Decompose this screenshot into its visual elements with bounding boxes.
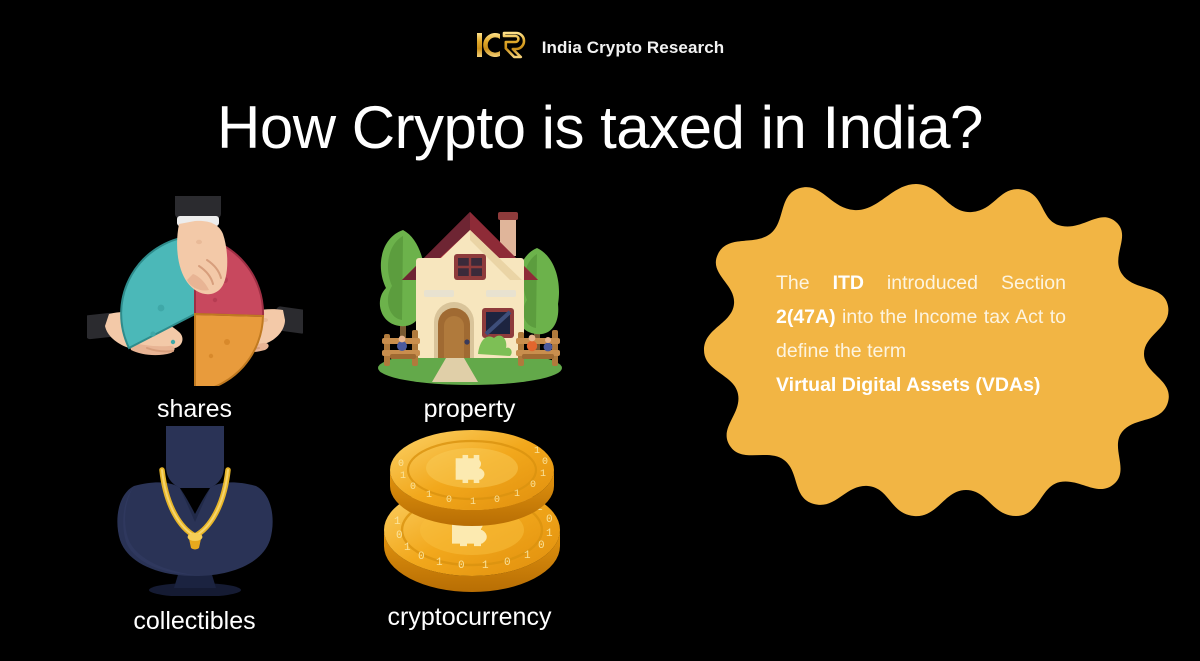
necklace-bust-icon (100, 424, 290, 601)
callout-text-emphasis-itd: ITD (833, 272, 864, 294)
svg-text:0: 0 (530, 480, 536, 491)
poster-canvas: India Crypto Research How Crypto is taxe… (0, 0, 1200, 661)
svg-text:0: 0 (410, 482, 416, 493)
callout-text: The ITD introduced Section 2(47A) into t… (776, 266, 1066, 402)
brand-name: India Crypto Research (542, 38, 725, 58)
svg-text:0: 0 (504, 557, 511, 569)
svg-text:1: 1 (436, 557, 443, 569)
callout-text-emphasis-section: 2(47A) (776, 306, 836, 328)
asset-grid: shares (62, 196, 602, 634)
callout-burst: The ITD introduced Section 2(47A) into t… (648, 178, 1182, 522)
svg-text:0: 0 (446, 495, 452, 506)
svg-text:0: 0 (458, 560, 465, 572)
asset-label-shares: shares (157, 395, 232, 424)
svg-text:1: 1 (426, 490, 432, 501)
svg-text:0: 0 (396, 530, 403, 542)
callout-text-emphasis-vda: Virtual Digital Assets (VDAs) (776, 368, 1066, 402)
asset-item-property: property (337, 196, 602, 424)
svg-text:1: 1 (540, 469, 546, 480)
svg-text:1: 1 (534, 446, 540, 457)
icr-monogram-icon (476, 30, 528, 65)
callout-text-part-1: The (776, 272, 833, 294)
svg-text:1: 1 (514, 489, 520, 500)
svg-text:0: 0 (418, 551, 425, 563)
svg-text:1: 1 (400, 471, 406, 482)
callout-text-part-2: introduced Section (864, 272, 1066, 294)
svg-text:1: 1 (470, 497, 476, 508)
svg-text:1: 1 (482, 560, 489, 572)
asset-label-cryptocurrency: cryptocurrency (388, 603, 552, 632)
svg-text:0: 0 (542, 457, 548, 468)
svg-text:0: 0 (546, 514, 553, 526)
svg-text:1: 1 (404, 542, 411, 554)
asset-label-property: property (424, 395, 516, 424)
svg-text:1: 1 (394, 516, 401, 528)
asset-label-collectibles: collectibles (133, 607, 255, 636)
house-icon (372, 196, 568, 391)
asset-item-shares: shares (62, 196, 327, 424)
hands-pie-chart-icon (87, 196, 303, 391)
asset-item-collectibles: collectibles (62, 424, 327, 634)
svg-text:1: 1 (524, 550, 531, 562)
svg-text:0: 0 (538, 540, 545, 552)
asset-item-cryptocurrency: 10 10 10 10 10 10 10 (337, 424, 602, 634)
svg-text:0: 0 (494, 495, 500, 506)
svg-text:1: 1 (546, 528, 553, 540)
svg-text:0: 0 (398, 459, 404, 470)
brand-header: India Crypto Research (0, 30, 1200, 65)
bitcoin-coins-icon: 10 10 10 10 10 10 10 (370, 424, 570, 599)
page-title: How Crypto is taxed in India? (0, 96, 1200, 159)
